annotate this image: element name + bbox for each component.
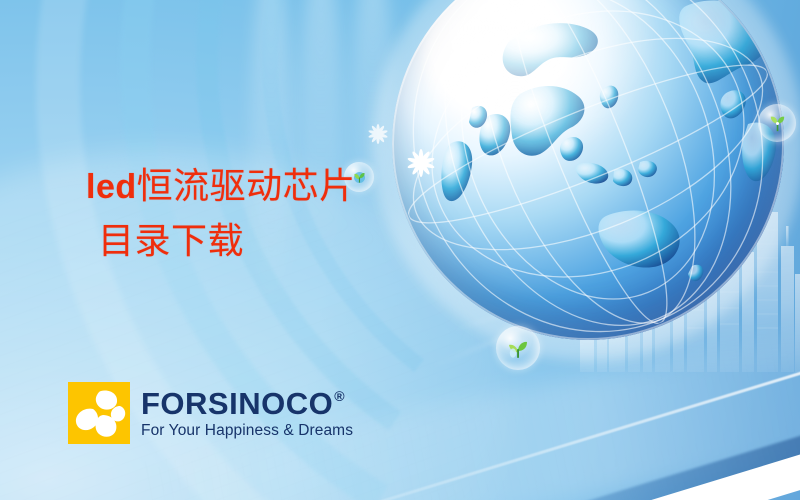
headline: led恒流驱动芯片 目录下载 [86,163,356,264]
headline-line-2: 目录下载 [98,218,356,264]
logo-wordmark: FORSINOCO ® [141,388,353,419]
brand-logo[interactable]: FORSINOCO ® For Your Happiness & Dreams [68,382,353,444]
logo-tagline: For Your Happiness & Dreams [141,423,353,439]
earth-globe [392,0,784,340]
logo-wordmark-text: FORSINOCO [141,388,333,419]
headline-line-1: led恒流驱动芯片 [86,163,356,210]
flower-asterisk-1 [404,146,438,180]
headline-cjk: 恒流驱动芯片 [137,166,356,206]
bubble-windmill [758,104,796,142]
headline-latin: led [86,168,137,206]
flower-asterisk-2 [366,122,390,146]
bubble-sprout [496,326,540,370]
windmill-icon [766,112,789,135]
registered-trademark-icon: ® [334,389,345,403]
sprout-icon [505,335,531,361]
logo-text-block: FORSINOCO ® For Your Happiness & Dreams [141,388,353,439]
pinwheel-flower-icon [68,382,130,444]
promo-banner: led恒流驱动芯片 目录下载 FORSINOCO ® For Your Happ… [0,0,800,500]
